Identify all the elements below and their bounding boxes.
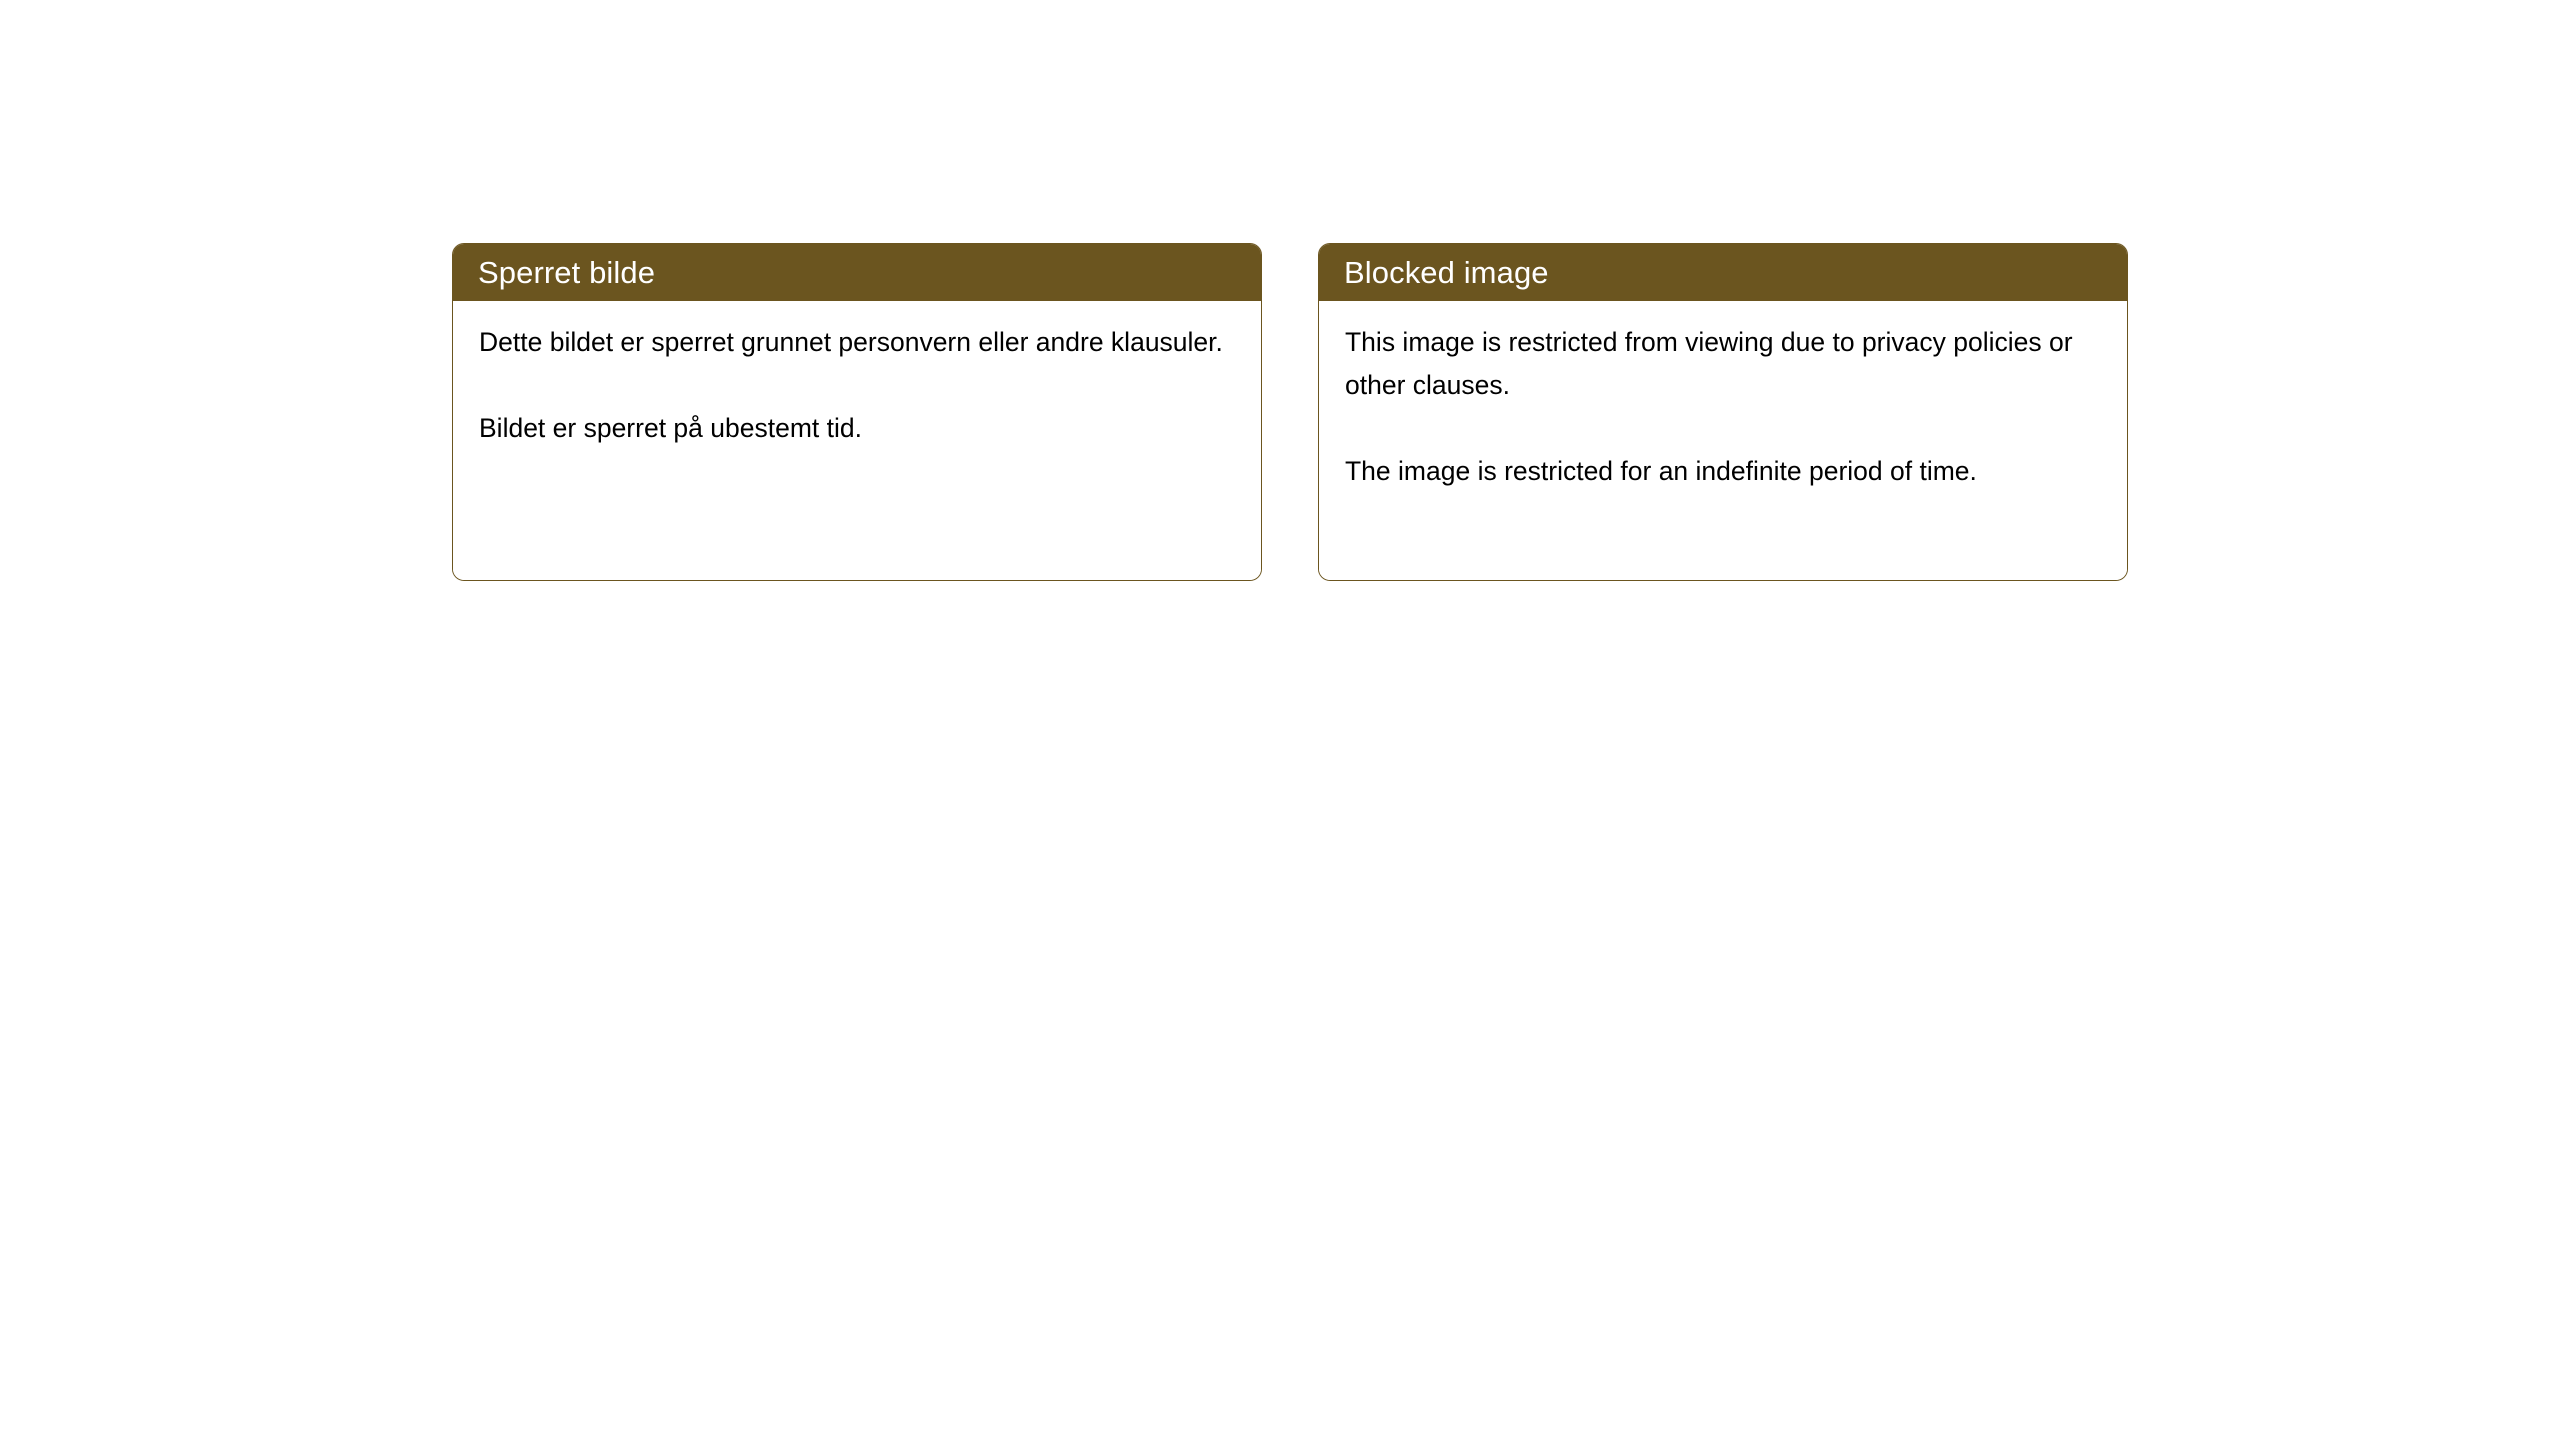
panel-paragraph-en-2: The image is restricted for an indefinit… <box>1345 450 2105 493</box>
panel-title-no: Sperret bilde <box>478 257 655 288</box>
blocked-image-notice-row: Sperret bilde Dette bildet er sperret gr… <box>452 243 2128 581</box>
blocked-image-notice-panel-no: Sperret bilde Dette bildet er sperret gr… <box>452 243 1262 581</box>
panel-header-no: Sperret bilde <box>453 244 1261 301</box>
panel-body-en: This image is restricted from viewing du… <box>1319 301 2127 580</box>
panel-paragraph-no-1: Dette bildet er sperret grunnet personve… <box>479 321 1239 364</box>
panel-paragraph-no-2: Bildet er sperret på ubestemt tid. <box>479 407 1239 450</box>
panel-header-en: Blocked image <box>1319 244 2127 301</box>
blocked-image-notice-panel-en: Blocked image This image is restricted f… <box>1318 243 2128 581</box>
panel-title-en: Blocked image <box>1344 257 1549 288</box>
panel-paragraph-en-1: This image is restricted from viewing du… <box>1345 321 2105 407</box>
panel-body-no: Dette bildet er sperret grunnet personve… <box>453 301 1261 580</box>
